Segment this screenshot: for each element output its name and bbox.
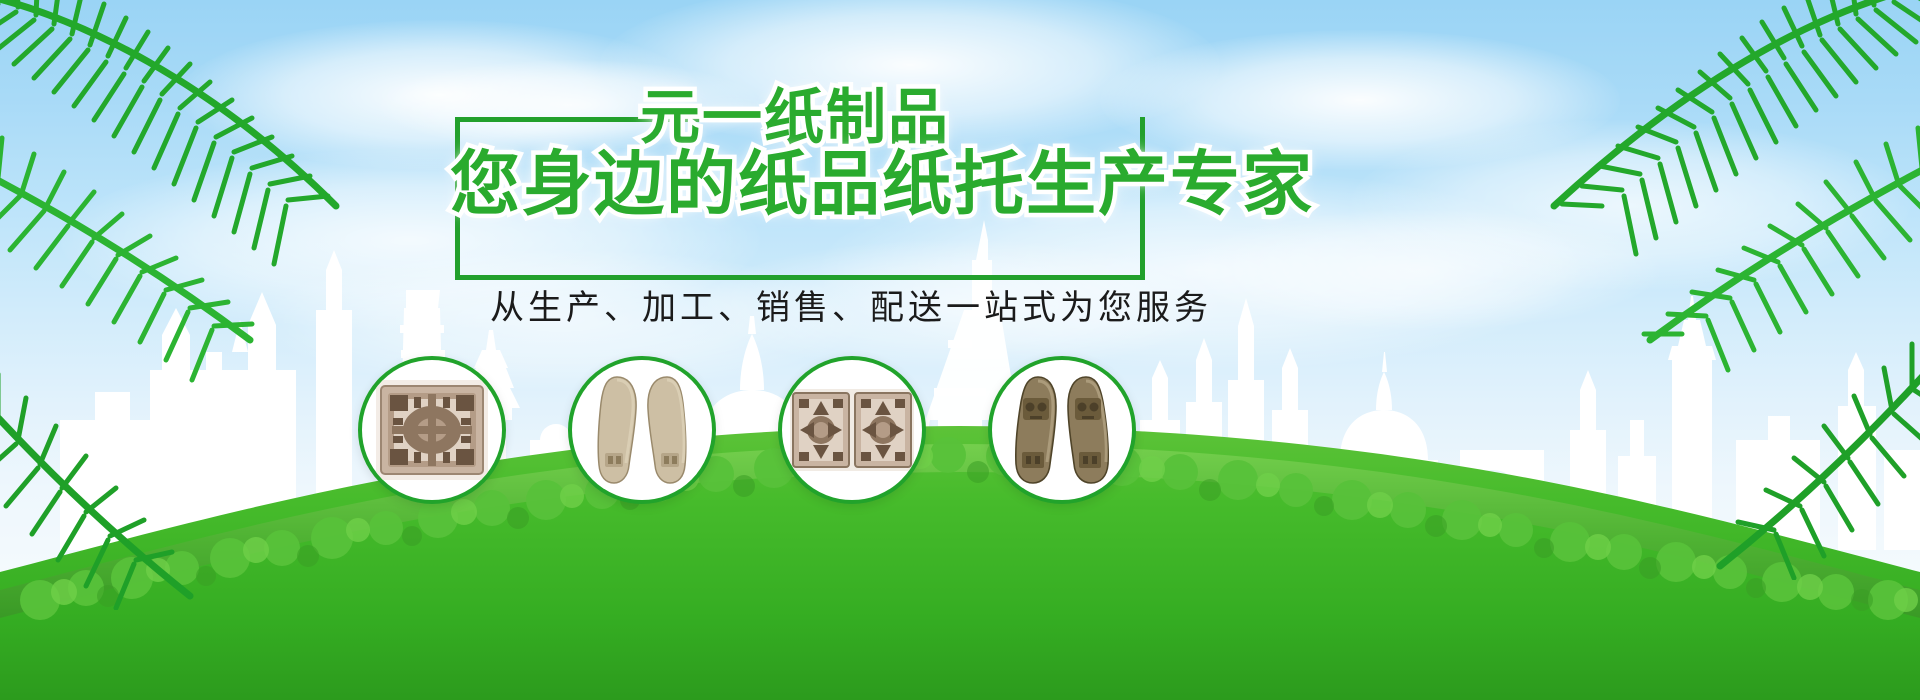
palm-frond-left-bottom-icon bbox=[0, 330, 240, 610]
dark-shoe-pulp-pair-image bbox=[1006, 372, 1118, 488]
product-circle-double-pulp-tray-pair[interactable] bbox=[778, 356, 926, 504]
headline-block: 元一纸制品 您身边的纸品纸托生产专家 bbox=[455, 95, 1145, 280]
double-pulp-tray-pair-image bbox=[790, 389, 914, 471]
headline-subtitle: 从生产、加工、销售、配送一站式为您服务 bbox=[490, 288, 1130, 328]
product-circle-dark-shoe-pulp-pair[interactable] bbox=[988, 356, 1136, 504]
palm-frond-right-bottom-icon bbox=[1670, 300, 1920, 580]
headline-title-line-1: 元一纸制品 bbox=[640, 86, 950, 150]
hero-banner: 元一纸制品 您身边的纸品纸托生产专家 从生产、加工、销售、配送一站式为您服务 bbox=[0, 0, 1920, 700]
bracket-bottom-rule bbox=[455, 275, 1145, 280]
product-circle-square-pulp-tray[interactable] bbox=[358, 356, 506, 504]
square-pulp-tray-image bbox=[376, 380, 488, 480]
product-circle-shoe-insole-pulp-pair[interactable] bbox=[568, 356, 716, 504]
headline-title-line-2: 您身边的纸品纸托生产专家 bbox=[450, 147, 1314, 221]
shoe-insole-pulp-pair-image bbox=[587, 371, 697, 489]
